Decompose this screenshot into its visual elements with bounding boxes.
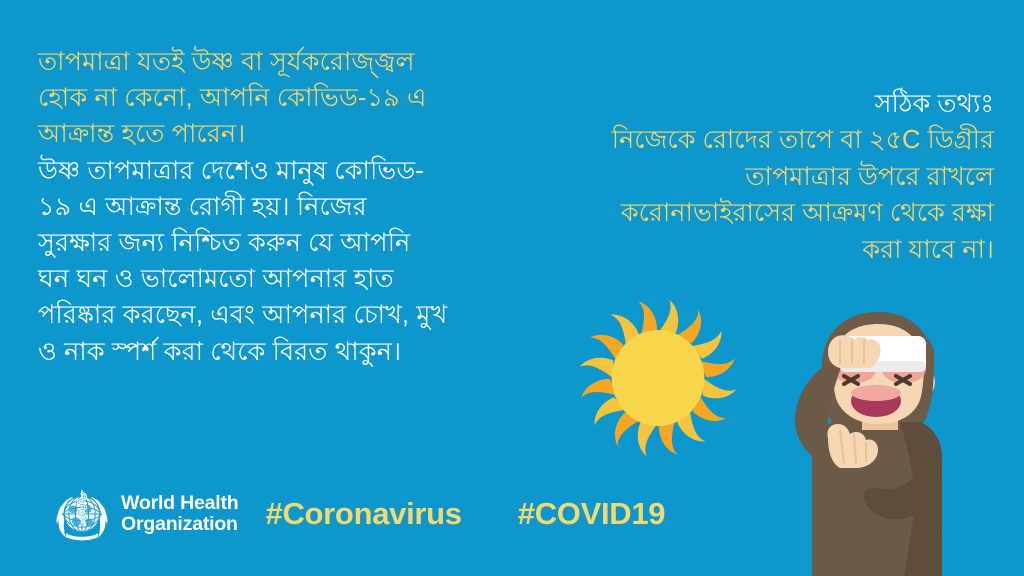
fact-text-line: তাপমাত্রার উপরে রাখলে [524, 159, 994, 195]
myth-text-line: তাপমাত্রা যতই উষ্ণ বা সূর্যকরোজ্জ্বল [38, 44, 523, 80]
poster-canvas: তাপমাত্রা যতই উষ্ণ বা সূর্যকরোজ্জ্বল হোক… [0, 0, 1024, 576]
myth-text-line: হোক না কেনো, আপনি কোভিড-১৯ এ [38, 80, 523, 116]
who-name-line1: World Health [121, 493, 239, 514]
who-name-line2: Organization [121, 514, 239, 535]
who-logo[interactable]: World Health Organization [52, 484, 239, 544]
myth-text-line: উষ্ণ তাপমাত্রার দেশেও মানুষ কোভিড- [38, 153, 523, 189]
who-name-text: World Health Organization [121, 493, 239, 535]
myth-text-line: ও নাক স্পর্শ করা থেকে বিরত থাকুন। [38, 334, 523, 370]
fact-text-line: করা যাবে না। [524, 232, 994, 268]
sick-person-illustration [778, 306, 983, 576]
myth-text-line: ঘন ঘন ও ভালোমতো আপনার হাত [38, 261, 523, 297]
who-emblem-icon [52, 484, 112, 544]
person-mouth [851, 385, 901, 417]
sick-person-icon [778, 306, 983, 576]
sun-illustration [578, 298, 738, 458]
fact-text-block: সঠিক তথ্যঃ নিজেকে রোদের তাপে বা ২৫C ডিগ্… [524, 86, 994, 268]
fact-heading: সঠিক তথ্যঃ [524, 86, 994, 122]
sun-icon [578, 298, 738, 458]
myth-text-line: সুরক্ষার জন্য নিশ্চিত করুন যে আপনি [38, 225, 523, 261]
sun-disc [612, 330, 705, 426]
fact-text-line: নিজেকে রোদের তাপে বা ২৫C ডিগ্রীর [524, 122, 994, 158]
myth-text-line: ১৯ এ আক্রান্ত রোগী হয়। নিজের [38, 189, 523, 225]
footer-bar: World Health Organization #Coronavirus #… [52, 484, 665, 544]
hashtag-group: #Coronavirus #COVID19 [266, 496, 666, 532]
myth-text-line: পরিষ্কার করছেন, এবং আপনার চোখ, মুখ [38, 297, 523, 333]
hashtag-covid19[interactable]: #COVID19 [518, 496, 666, 532]
myth-text-line: আক্রান্ত হতে পারেন। [38, 116, 523, 152]
person-hand-forehead [828, 335, 881, 368]
myth-text-block: তাপমাত্রা যতই উষ্ণ বা সূর্যকরোজ্জ্বল হোক… [38, 44, 523, 370]
hashtag-coronavirus[interactable]: #Coronavirus [266, 496, 462, 532]
fact-text-line: করোনাভাইরাসের আক্রমণ থেকে রক্ষা [524, 195, 994, 231]
